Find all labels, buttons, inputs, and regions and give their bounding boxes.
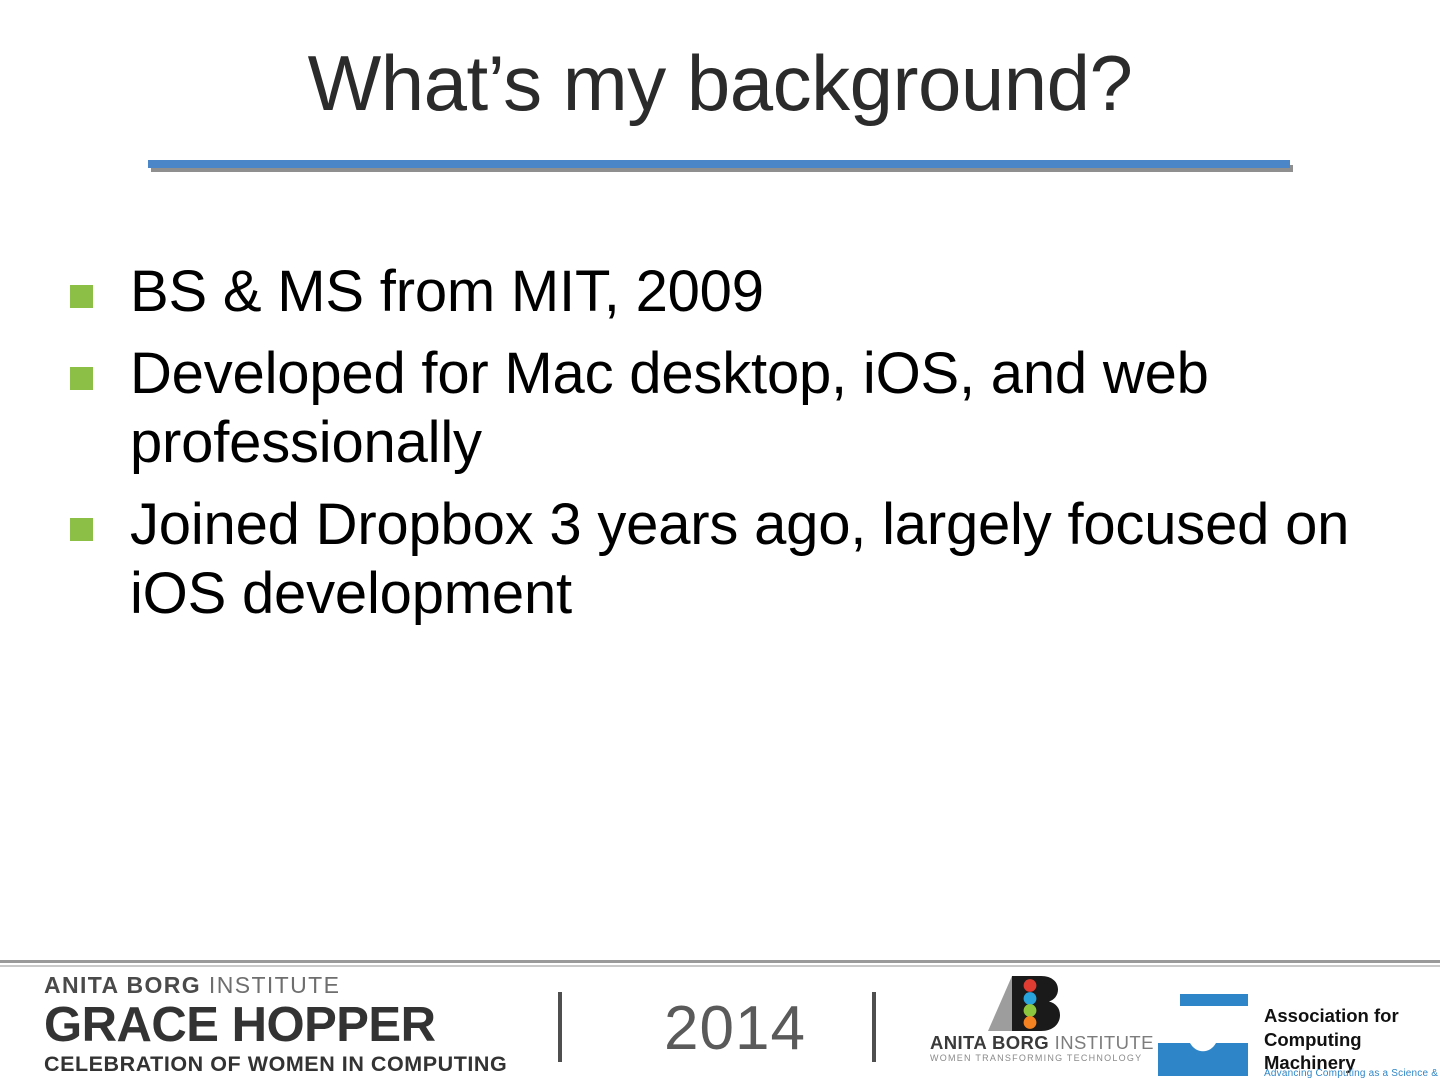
grace-hopper-logo: ANITA BORG INSTITUTE GRACE HOPPER CELEBR… <box>44 974 494 1076</box>
square-bullet-icon <box>70 285 93 308</box>
list-item: BS & MS from MIT, 2009 <box>70 258 1380 326</box>
abi-name-bold: ANITA BORG <box>930 1032 1049 1053</box>
title-underline-bar <box>148 160 1290 168</box>
list-item-label: BS & MS from MIT, 2009 <box>130 258 1380 326</box>
ghc-logo-line2: GRACE HOPPER <box>44 1001 494 1050</box>
abi-logo-tagline: WOMEN TRANSFORMING TECHNOLOGY <box>930 1054 1130 1063</box>
ghc-institute-text: INSTITUTE <box>209 972 340 998</box>
slide-footer: ANITA BORG INSTITUTE GRACE HOPPER CELEBR… <box>0 960 1440 1080</box>
conference-year: 2014 <box>620 998 850 1060</box>
list-item-label: Developed for Mac desktop, iOS, and web … <box>130 340 1380 477</box>
list-item-label: Joined Dropbox 3 years ago, largely focu… <box>130 491 1380 628</box>
title-underline <box>148 160 1290 172</box>
anita-borg-institute-logo: ANITA BORG INSTITUTE WOMEN TRANSFORMING … <box>930 972 1130 1080</box>
footer-content: ANITA BORG INSTITUTE GRACE HOPPER CELEBR… <box>0 968 1440 1080</box>
abi-logo-name: ANITA BORG INSTITUTE <box>930 1034 1130 1053</box>
square-bullet-icon <box>70 518 93 541</box>
slide: What’s my background? BS & MS from MIT, … <box>0 0 1440 1080</box>
title-block: What’s my background? <box>0 44 1440 122</box>
acm-logo-name: Association for Computing Machinery <box>1264 1004 1440 1075</box>
square-bullet-icon <box>70 367 93 390</box>
footer-divider-right <box>872 992 876 1062</box>
acm-logo-tagline: Advancing Computing as a Science & Profe… <box>1264 1068 1440 1079</box>
page-title: What’s my background? <box>0 44 1440 122</box>
footer-divider-bottom <box>0 965 1440 967</box>
ghc-logo-line1: ANITA BORG INSTITUTE <box>44 974 494 997</box>
abi-name-light: INSTITUTE <box>1055 1032 1154 1053</box>
ghc-anita-borg-text: ANITA BORG <box>44 972 201 998</box>
abi-logo-mark-icon <box>986 974 1066 1032</box>
footer-divider-left <box>558 992 562 1062</box>
list-item: Joined Dropbox 3 years ago, largely focu… <box>70 491 1380 628</box>
acm-logo: Association for Computing Machinery Adva… <box>1152 982 1440 1080</box>
acm-name-line1: Association for <box>1264 1004 1440 1028</box>
bullet-list: BS & MS from MIT, 2009 Developed for Mac… <box>70 258 1380 642</box>
list-item: Developed for Mac desktop, iOS, and web … <box>70 340 1380 477</box>
footer-divider-top <box>0 960 1440 963</box>
ghc-logo-line3: CELEBRATION OF WOMEN IN COMPUTING <box>44 1054 494 1076</box>
